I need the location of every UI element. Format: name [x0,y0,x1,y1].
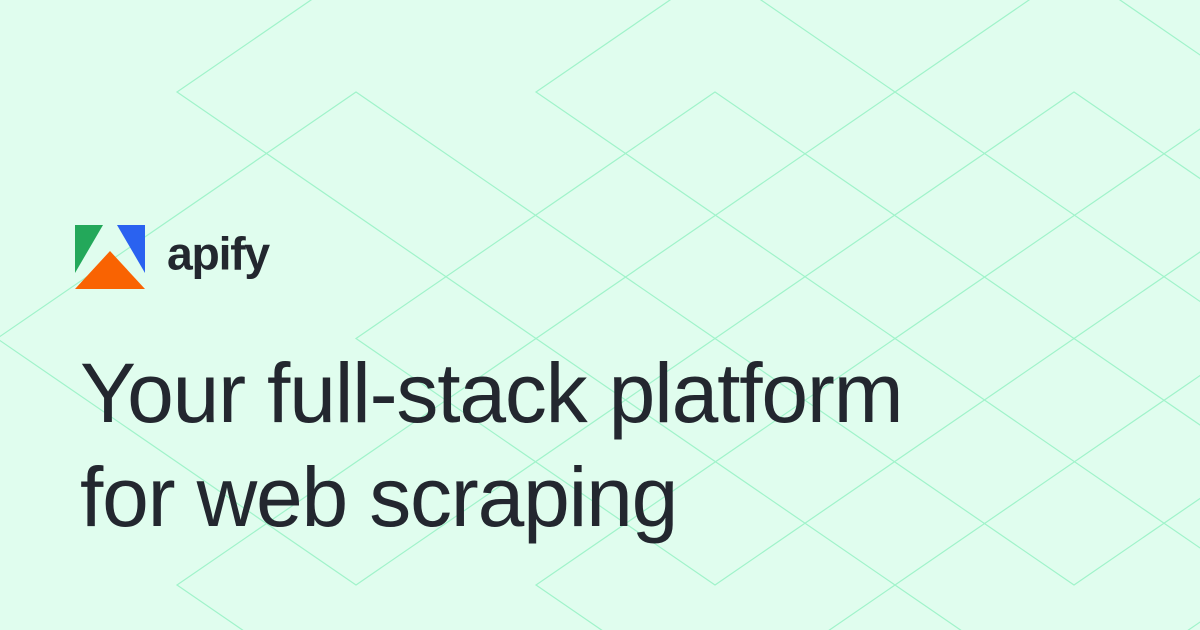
apify-triangle-logo-icon [75,225,145,289]
headline-line-2: for web scraping [80,448,1080,558]
brand-lockup[interactable]: apify [75,225,289,289]
headline-line-1-text: Your full-stack platform [80,346,902,440]
apify-wordmark-text: apify [167,233,270,279]
og-card: apify Your full-stack platform for web s… [0,0,1200,630]
page-title: Your full-stack platform for web scrapin… [80,344,1080,558]
headline-line-2-svg: for web scraping [80,448,1080,558]
logo-orange-triangle [75,251,145,289]
headline-line-2-text: for web scraping [80,450,677,544]
headline-line-1-svg: Your full-stack platform [80,344,1080,448]
apify-wordmark: apify [167,233,289,281]
card-content: apify Your full-stack platform for web s… [0,0,1200,630]
headline-line-1: Your full-stack platform [80,344,1080,448]
